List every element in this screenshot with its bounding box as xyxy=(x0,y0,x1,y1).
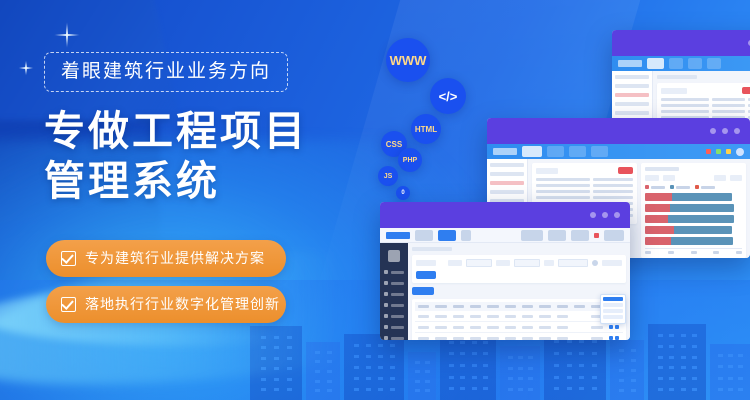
table-header-cell[interactable] xyxy=(484,302,501,311)
app-logo-icon xyxy=(386,232,410,239)
axis-tick xyxy=(645,251,651,254)
primary-action-button[interactable] xyxy=(742,87,750,94)
row-action-dropdown[interactable] xyxy=(600,294,626,324)
subtitle-badge: 着眼建筑行业业务方向 xyxy=(44,52,288,92)
table-row[interactable] xyxy=(415,322,623,333)
window-dot-icon[interactable] xyxy=(614,212,620,218)
list-row[interactable] xyxy=(536,190,633,193)
tech-bubble-php: PHP xyxy=(398,148,422,172)
tech-bubble-js: JS xyxy=(378,166,398,186)
filter-chip[interactable] xyxy=(536,168,558,174)
topnav-chevron-down-icon[interactable] xyxy=(461,230,471,241)
filter-row xyxy=(416,259,622,279)
axis-tick xyxy=(691,251,697,254)
checkbox-checked-icon xyxy=(61,297,76,312)
bell-icon[interactable] xyxy=(726,149,731,154)
window-titlebar-back xyxy=(612,30,750,56)
table-cell xyxy=(432,333,449,341)
topnav-contracts-active[interactable] xyxy=(438,230,456,241)
filter-row xyxy=(661,87,750,94)
table-header-cell[interactable] xyxy=(536,302,553,311)
table-cell xyxy=(502,322,519,333)
filter-label xyxy=(602,260,622,266)
user-menu[interactable] xyxy=(604,230,624,241)
table-cell xyxy=(519,311,536,322)
sidebar-item[interactable] xyxy=(615,102,649,106)
list-row[interactable] xyxy=(536,196,633,199)
dropdown-item[interactable] xyxy=(603,315,623,319)
topnav-projects[interactable] xyxy=(415,230,433,241)
feature-pill-list: 专为建筑行业提供解决方案 落地执行行业数字化管理创新 xyxy=(46,240,286,332)
legend-swatch xyxy=(695,185,699,189)
filter-chip[interactable] xyxy=(663,175,675,181)
table-cell xyxy=(519,333,536,341)
table-cell xyxy=(484,333,501,341)
chart-legend xyxy=(645,185,742,189)
sidebar-item-costs[interactable] xyxy=(380,301,408,309)
data-table xyxy=(415,302,623,340)
app-navbar-back xyxy=(612,56,750,71)
sidebar-item-projects[interactable] xyxy=(380,279,408,287)
table-header-cell[interactable] xyxy=(450,302,467,311)
row-action-cell[interactable] xyxy=(606,333,623,341)
alert-badge-icon[interactable] xyxy=(594,233,599,238)
legend-label xyxy=(701,186,715,189)
window-dot-icon[interactable] xyxy=(722,128,728,134)
sidebar-item-reports[interactable] xyxy=(380,323,408,331)
table-card xyxy=(412,299,626,340)
window-titlebar-middle xyxy=(487,118,750,144)
chart-title xyxy=(645,167,679,171)
table-cell xyxy=(450,333,467,341)
list-row[interactable] xyxy=(536,184,633,187)
chart-bar-row xyxy=(645,226,742,234)
topnav-settings[interactable] xyxy=(571,230,589,241)
axis-tick xyxy=(713,251,719,254)
content-front xyxy=(408,243,630,340)
window-titlebar-front xyxy=(380,202,630,228)
sidebar-item[interactable] xyxy=(615,75,649,79)
tab-workbench[interactable] xyxy=(669,58,683,69)
table-header-cell[interactable] xyxy=(554,302,571,311)
chart-bar-row xyxy=(645,193,742,201)
legend-label xyxy=(676,186,690,189)
bar-segment-completed xyxy=(645,226,674,234)
app-logo-icon xyxy=(493,148,517,155)
feature-pill-2[interactable]: 落地执行行业数字化管理创新 xyxy=(46,286,286,323)
table-cell xyxy=(502,311,519,322)
primary-action-button[interactable] xyxy=(618,167,633,174)
page-title: 专做工程项目 管理系统 xyxy=(44,106,344,206)
sidebar-item-dashboard[interactable] xyxy=(380,268,408,276)
table-cell xyxy=(484,322,501,333)
list-row[interactable] xyxy=(661,98,750,101)
table-header-cell[interactable] xyxy=(467,302,484,311)
status-badge xyxy=(571,333,588,341)
legend-label xyxy=(651,186,665,189)
tab-workbench[interactable] xyxy=(547,146,564,157)
sidebar-item[interactable] xyxy=(490,172,524,176)
topnav-reports[interactable] xyxy=(548,230,566,241)
chart-card xyxy=(641,163,746,258)
alert-icon[interactable] xyxy=(706,149,711,154)
bar-segment-completed xyxy=(645,215,668,223)
table-row[interactable] xyxy=(415,333,623,341)
add-button[interactable] xyxy=(412,287,434,295)
list-row[interactable] xyxy=(536,178,633,181)
table-cell xyxy=(554,311,571,322)
app-navbar-middle xyxy=(487,144,750,159)
headline-line-2: 管理系统 xyxy=(44,156,344,206)
table-cell xyxy=(415,311,432,322)
table-cell xyxy=(536,311,553,322)
filter-chip[interactable] xyxy=(714,175,726,181)
tab-settings[interactable] xyxy=(591,146,608,157)
filter-select[interactable] xyxy=(466,259,492,267)
table-cell xyxy=(415,322,432,333)
table-header-cell[interactable] xyxy=(432,302,449,311)
sidebar-item-contracts[interactable] xyxy=(380,290,408,298)
search-icon[interactable] xyxy=(592,260,598,266)
chart-x-axis xyxy=(645,248,742,254)
message-icon[interactable] xyxy=(716,149,721,154)
filter-label xyxy=(496,260,510,266)
table-header-cell[interactable] xyxy=(571,302,588,311)
table-cell xyxy=(432,311,449,322)
headline-line-1: 专做工程项目 xyxy=(44,106,344,156)
promo-banner: 着眼建筑行业业务方向 专做工程项目 管理系统 专为建筑行业提供解决方案 落地执行… xyxy=(0,0,750,400)
tab-projects[interactable] xyxy=(688,58,702,69)
feature-pill-1[interactable]: 专为建筑行业提供解决方案 xyxy=(46,240,286,277)
subtitle-text: 着眼建筑行业业务方向 xyxy=(61,62,271,81)
sidebar-item[interactable] xyxy=(490,190,524,194)
dropdown-item[interactable] xyxy=(603,309,623,313)
sidebar-item[interactable] xyxy=(615,84,649,88)
chart-bars xyxy=(645,193,742,245)
filter-label xyxy=(416,260,436,266)
filter-chip[interactable] xyxy=(730,175,742,181)
sidebar-front xyxy=(380,243,408,340)
table-cell xyxy=(467,311,484,322)
dropdown-item[interactable] xyxy=(603,303,623,307)
table-cell xyxy=(432,322,449,333)
list-row[interactable] xyxy=(661,110,750,113)
search-button[interactable] xyxy=(416,271,436,279)
sidebar-item-active[interactable] xyxy=(490,181,524,185)
list-row[interactable] xyxy=(661,104,750,107)
tech-bubble-0: 0 xyxy=(396,186,410,200)
tech-bubble-html: HTML xyxy=(411,114,441,144)
bar-segment-completed xyxy=(645,237,671,245)
filter-card xyxy=(412,255,626,283)
table-cell xyxy=(519,322,536,333)
feature-pill-1-label: 专为建筑行业提供解决方案 xyxy=(85,248,265,268)
status-badge xyxy=(571,311,588,322)
legend-item[interactable] xyxy=(670,185,690,189)
table-cell xyxy=(415,333,432,341)
chart-pane xyxy=(641,163,746,258)
dashboard-window-front[interactable] xyxy=(380,202,630,340)
sidebar-item-materials[interactable] xyxy=(380,312,408,320)
filter-select[interactable] xyxy=(514,259,540,267)
tab-settings[interactable] xyxy=(707,58,721,69)
tab-home[interactable] xyxy=(647,58,664,69)
chart-bar-row xyxy=(645,204,742,212)
window-dot-icon[interactable] xyxy=(590,212,596,218)
tech-bubble-: </> xyxy=(430,78,466,114)
app-logo-icon xyxy=(618,60,642,67)
bar-segment-completed xyxy=(645,193,672,201)
legend-item[interactable] xyxy=(695,185,715,189)
status-badge xyxy=(571,322,588,333)
filter-chip[interactable] xyxy=(645,175,659,181)
filter-label xyxy=(544,260,554,266)
bar-segment-completed xyxy=(645,204,670,212)
filter-chip[interactable] xyxy=(661,88,687,94)
axis-tick xyxy=(736,251,742,254)
app-navbar-front xyxy=(380,228,630,243)
app-logo-icon xyxy=(388,250,400,262)
dropdown-item[interactable] xyxy=(603,297,623,301)
sidebar-item[interactable] xyxy=(615,111,649,115)
filter-label xyxy=(448,260,462,266)
window-dot-icon[interactable] xyxy=(710,128,716,134)
table-cell xyxy=(450,322,467,333)
tab-home[interactable] xyxy=(522,146,542,157)
table-header-cell[interactable] xyxy=(519,302,536,311)
headline-block: 着眼建筑行业业务方向 专做工程项目 管理系统 xyxy=(44,52,344,206)
window-dot-icon[interactable] xyxy=(734,128,740,134)
chart-bar-row xyxy=(645,215,742,223)
table-cell xyxy=(484,311,501,322)
table-cell xyxy=(554,333,571,341)
window-body-front xyxy=(380,243,630,340)
legend-item[interactable] xyxy=(645,185,665,189)
sidebar-item-active[interactable] xyxy=(615,93,649,97)
sidebar-item[interactable] xyxy=(490,163,524,167)
feature-pill-2-label: 落地执行行业数字化管理创新 xyxy=(85,294,280,314)
breadcrumb xyxy=(412,247,452,251)
bar-segment-ongoing xyxy=(671,237,733,245)
breadcrumb xyxy=(657,75,697,79)
search-input[interactable] xyxy=(558,259,588,267)
bar-segment-ongoing xyxy=(668,215,734,223)
table-row[interactable] xyxy=(415,311,623,322)
bar-segment-ongoing xyxy=(674,226,732,234)
table-header-row xyxy=(415,302,623,311)
chart-filter-row xyxy=(645,175,742,181)
tech-bubble-www: WWW xyxy=(386,38,430,82)
table-cell xyxy=(588,333,605,341)
filter-row xyxy=(536,167,633,174)
table-header-cell[interactable] xyxy=(502,302,519,311)
checkbox-checked-icon xyxy=(61,251,76,266)
bar-segment-ongoing xyxy=(670,204,734,212)
topnav-costs[interactable] xyxy=(521,230,543,241)
legend-swatch xyxy=(670,185,674,189)
legend-swatch xyxy=(645,185,649,189)
table-cell xyxy=(536,322,553,333)
table-cell xyxy=(554,322,571,333)
sidebar-item-settings[interactable] xyxy=(380,334,408,340)
table-cell xyxy=(450,311,467,322)
tab-projects[interactable] xyxy=(569,146,586,157)
avatar[interactable] xyxy=(736,148,744,156)
table-cell xyxy=(536,333,553,341)
table-cell xyxy=(467,322,484,333)
table-header-cell[interactable] xyxy=(415,302,432,311)
chart-bar-row xyxy=(645,237,742,245)
window-dot-icon[interactable] xyxy=(602,212,608,218)
axis-tick xyxy=(668,251,674,254)
table-cell xyxy=(467,333,484,341)
table-cell xyxy=(502,333,519,341)
bar-segment-ongoing xyxy=(672,193,732,201)
